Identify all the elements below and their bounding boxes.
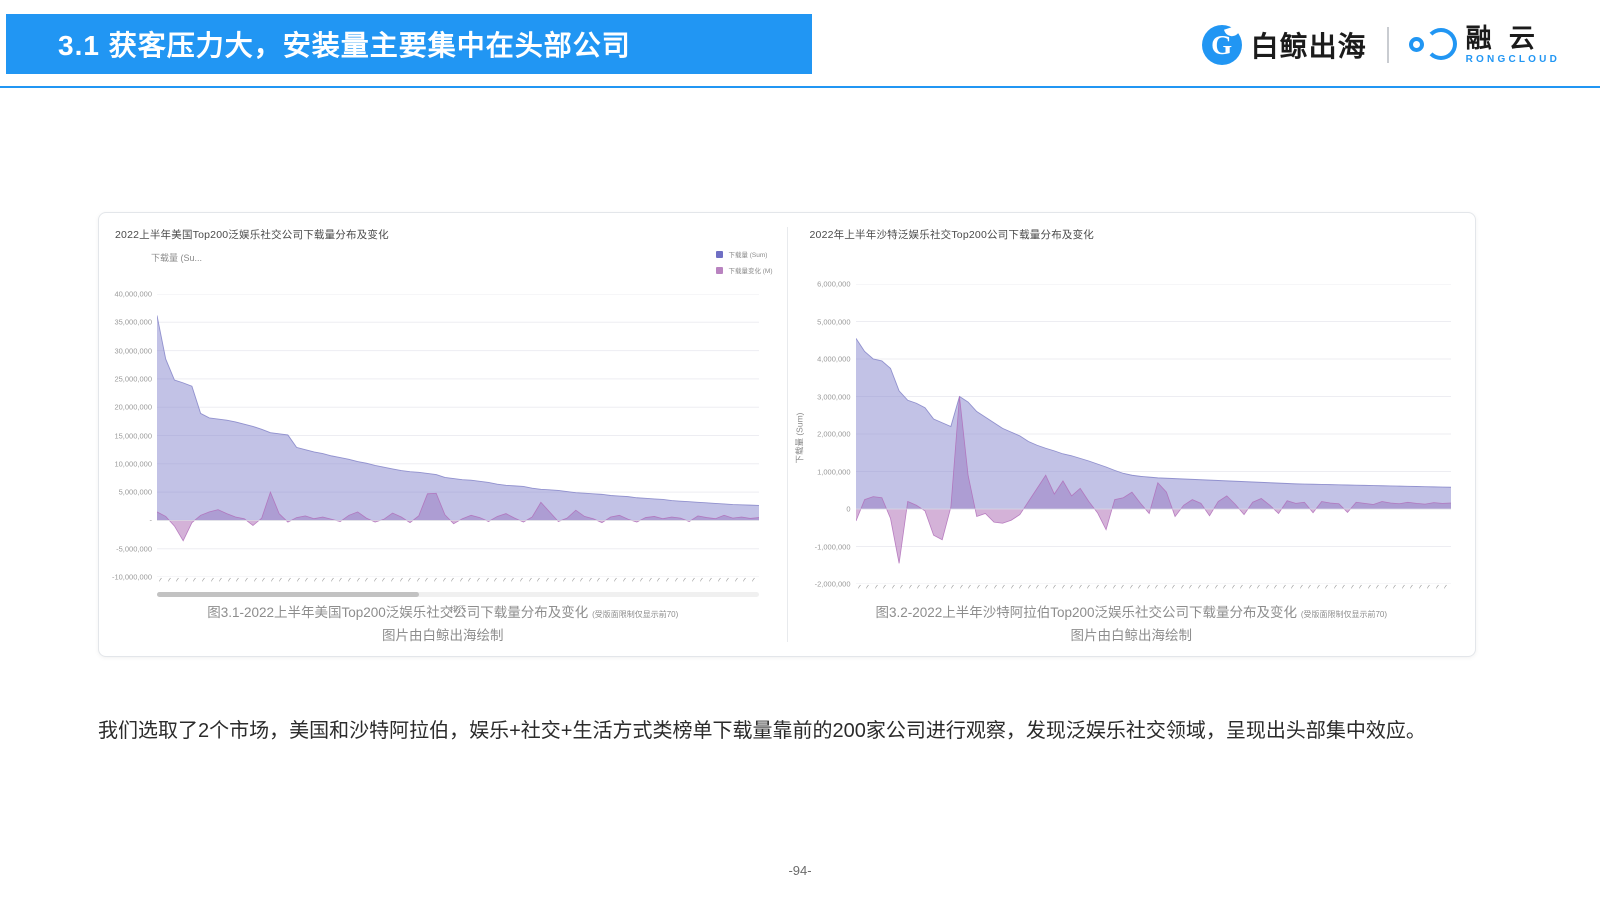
ytick-label: 4,000,000 <box>805 355 851 364</box>
logo-rongcloud-sublabel: RONGCLOUD <box>1466 55 1560 65</box>
slide: 3.1 获客压力大，安装量主要集中在头部公司 G 白鲸出海 融 云 RONGCL… <box>0 0 1600 900</box>
slide-header: 3.1 获客压力大，安装量主要集中在头部公司 G 白鲸出海 融 云 RONGCL… <box>0 0 1600 88</box>
chart-us-caption-note: (受版面限制仅显示前70) <box>592 610 678 619</box>
chart-sa-caption-note: (受版面限制仅显示前70) <box>1301 610 1387 619</box>
chart-us-scrollbar-thumb[interactable] <box>157 592 419 597</box>
ytick-label: -1,000,000 <box>805 542 851 551</box>
chart-pane-us: 2022上半年美国Top200泛娱乐社交公司下载量分布及变化 下载量 (Su..… <box>99 213 787 656</box>
section-title-bar: 3.1 获客压力大，安装量主要集中在头部公司 <box>6 14 812 74</box>
chart-sa-caption-sub: 图片由白鲸出海绘制 <box>788 624 1476 644</box>
ytick-label: 2,000,000 <box>805 430 851 439</box>
chart-us-legend: 下载量 (Sum) 下载量变化 (M) <box>716 249 772 275</box>
page-number: -94- <box>0 863 1600 878</box>
ytick-label: 1,000,000 <box>805 467 851 476</box>
ytick-label: 3,000,000 <box>805 392 851 401</box>
chart-us-y-axis-label: 下载量 (Su... <box>151 251 202 264</box>
chart-title-sa: 2022年上半年沙特泛娱乐社交Top200公司下载量分布及变化 <box>804 227 1460 242</box>
ytick-label: -10,000,000 <box>104 573 152 582</box>
ytick-label: 10,000,000 <box>104 459 152 468</box>
ytick-label: -2,000,000 <box>805 580 851 589</box>
ytick-label: 6,000,000 <box>805 280 851 289</box>
ytick-label: 40,000,000 <box>104 290 152 299</box>
legend-item-downloads: 下载量 (Sum) <box>716 249 772 259</box>
logo-area: G 白鲸出海 融 云 RONGCLOUD <box>1202 20 1560 70</box>
charts-card: 2022上半年美国Top200泛娱乐社交公司下载量分布及变化 下载量 (Su..… <box>98 212 1476 657</box>
logo-rongcloud-label: 融 云 <box>1466 25 1560 51</box>
chart-title-us: 2022上半年美国Top200泛娱乐社交公司下载量分布及变化 <box>115 227 771 242</box>
chart-us-scrollbar[interactable] <box>157 592 759 597</box>
chart-us-caption: 图3.1-2022上半年美国Top200泛娱乐社交公司下载量分布及变化 (受版面… <box>99 601 787 644</box>
chart-us-ytick-labels: 40,000,00035,000,00030,000,00025,000,000… <box>104 294 152 577</box>
logo-rongcloud: 融 云 RONGCLOUD <box>1409 25 1560 65</box>
ytick-label: - <box>104 516 152 525</box>
chart-us-svg <box>157 294 759 577</box>
ytick-label: 5,000,000 <box>104 488 152 497</box>
whale-g-icon: G <box>1202 25 1242 65</box>
chart-sa-caption: 图3.2-2022上半年沙特阿拉伯Top200泛娱乐社交公司下载量分布及变化 (… <box>788 601 1476 644</box>
chart-us-caption-sub: 图片由白鲸出海绘制 <box>99 624 787 644</box>
ytick-label: 15,000,000 <box>104 431 152 440</box>
ytick-label: 0 <box>805 505 851 514</box>
chart-sa-xtick-labels: ••••••••••••••••••••••••••••••••••••••••… <box>856 587 1451 601</box>
body-paragraph: 我们选取了2个市场，美国和沙特阿拉伯，娱乐+社交+生活方式类榜单下载量靠前的20… <box>98 712 1488 750</box>
chart-sa-svg <box>856 284 1451 584</box>
rongcloud-circles-icon <box>1409 28 1457 62</box>
page-title: 3.1 获客压力大，安装量主要集中在头部公司 <box>6 24 631 64</box>
chart-pane-sa: 2022年上半年沙特泛娱乐社交Top200公司下载量分布及变化 下载量 (Sum… <box>788 213 1476 656</box>
chart-sa-yaxis-title: 下载量 (Sum) <box>793 412 805 463</box>
ytick-label: 35,000,000 <box>104 318 152 327</box>
legend-swatch-downloads <box>716 251 723 258</box>
logo-baijing: G 白鲸出海 <box>1202 25 1367 65</box>
chart-sa-caption-main: 图3.2-2022上半年沙特阿拉伯Top200泛娱乐社交公司下载量分布及变化 <box>875 605 1297 620</box>
ytick-label: 5,000,000 <box>805 317 851 326</box>
logo-baijing-label: 白鲸出海 <box>1251 25 1367 65</box>
ytick-label: 20,000,000 <box>104 403 152 412</box>
ytick-label: 25,000,000 <box>104 374 152 383</box>
legend-swatch-change <box>716 267 723 274</box>
legend-item-change: 下载量变化 (M) <box>716 265 772 275</box>
legend-label-downloads: 下载量 (Sum) <box>728 249 767 259</box>
ytick-label: -5,000,000 <box>104 544 152 553</box>
chart-sa-ytick-labels: 6,000,0005,000,0004,000,0003,000,0002,00… <box>805 284 851 584</box>
chart-us-caption-main: 图3.1-2022上半年美国Top200泛娱乐社交公司下载量分布及变化 <box>207 605 588 620</box>
logo-divider <box>1387 27 1389 63</box>
ytick-label: 30,000,000 <box>104 346 152 355</box>
legend-label-change: 下载量变化 (M) <box>728 265 772 275</box>
header-rule <box>0 86 1600 88</box>
